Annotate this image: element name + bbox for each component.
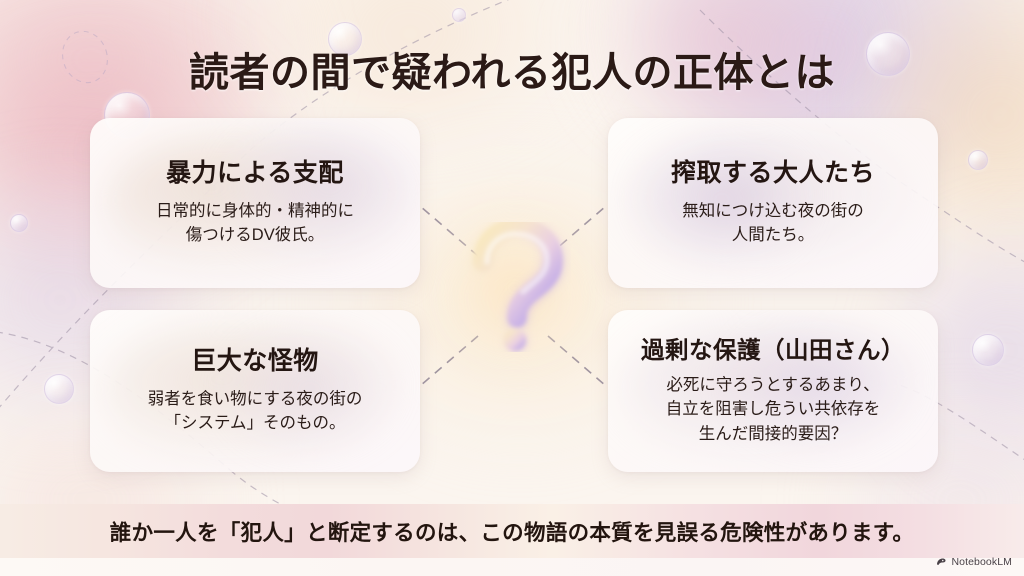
card-body-line: 自立を阻害し危うい共依存を	[666, 397, 881, 421]
question-mark-glow	[418, 190, 610, 386]
card-body-line: 人間たち。	[682, 223, 864, 247]
watermark: NotebookLM	[935, 556, 1012, 568]
footer-note: 誰か一人を「犯人」と断定するのは、この物語の本質を見誤る危険性があります。	[110, 516, 914, 547]
question-mark-icon	[455, 222, 571, 352]
slide-canvas: 読者の間で疑われる犯人の正体とは	[0, 0, 1024, 576]
card-body: 日常的に身体的・精神的に 傷つけるDV彼氏。	[156, 199, 354, 248]
card-body-line: 無知につけ込む夜の街の	[682, 199, 864, 223]
card-heading: 巨大な怪物	[191, 346, 319, 378]
card-body-line: 弱者を食い物にする夜の街の	[148, 387, 363, 411]
notebooklm-logo-icon	[935, 556, 947, 568]
card-violence-control[interactable]: 暴力による支配 日常的に身体的・精神的に 傷つけるDV彼氏。	[90, 118, 420, 288]
card-heading: 暴力による支配	[166, 158, 344, 190]
card-heading: 過剰な保護（山田さん）	[641, 336, 905, 366]
connector-lines	[420, 206, 606, 386]
card-exploitative-adults[interactable]: 搾取する大人たち 無知につけ込む夜の街の 人間たち。	[608, 118, 938, 288]
card-body-line: 傷つけるDV彼氏。	[156, 223, 354, 247]
bubble-decoration	[10, 214, 28, 232]
card-body-line: 「システム」そのもの。	[148, 411, 363, 435]
bubble-decoration	[44, 374, 74, 404]
card-body: 無知につけ込む夜の街の 人間たち。	[682, 199, 864, 248]
card-excessive-protection[interactable]: 過剰な保護（山田さん） 必死に守ろうとするあまり、 自立を阻害し危うい共依存を …	[608, 310, 938, 472]
footer-banner: 誰か一人を「犯人」と断定するのは、この物語の本質を見誤る危険性があります。	[0, 504, 1024, 558]
bubble-decoration	[452, 8, 466, 22]
page-title: 読者の間で疑われる犯人の正体とは	[0, 40, 1024, 98]
card-body: 弱者を食い物にする夜の街の 「システム」そのもの。	[148, 387, 363, 436]
card-giant-monster[interactable]: 巨大な怪物 弱者を食い物にする夜の街の 「システム」そのもの。	[90, 310, 420, 472]
footer-bottom-strip	[0, 558, 1024, 576]
card-body-line: 日常的に身体的・精神的に	[156, 199, 354, 223]
watermark-label: NotebookLM	[951, 556, 1012, 568]
card-body: 必死に守ろうとするあまり、 自立を阻害し危うい共依存を 生んだ間接的要因？	[666, 373, 881, 446]
bubble-decoration	[972, 334, 1004, 366]
card-body-line: 生んだ間接的要因？	[666, 422, 881, 446]
bubble-decoration	[968, 150, 988, 170]
card-body-line: 必死に守ろうとするあまり、	[666, 373, 881, 397]
card-heading: 搾取する大人たち	[671, 158, 875, 190]
